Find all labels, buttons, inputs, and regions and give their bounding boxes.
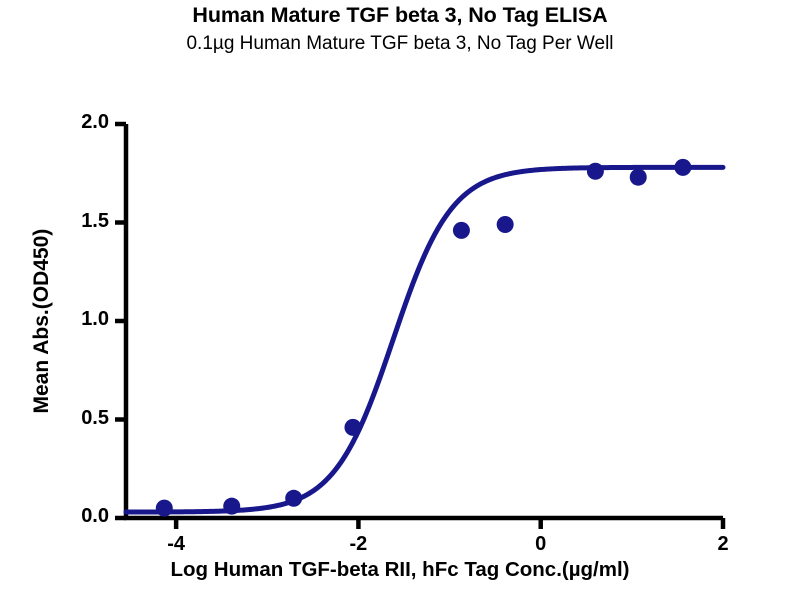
- data-point: [674, 159, 691, 176]
- data-point: [285, 490, 302, 507]
- elisa-chart-figure: Human Mature TGF beta 3, No Tag ELISA 0.…: [0, 0, 800, 600]
- data-point: [587, 163, 604, 180]
- axes-frame: [115, 124, 723, 529]
- fit-curve: [126, 167, 723, 512]
- fit-curve-path: [126, 167, 723, 512]
- data-point: [344, 419, 361, 436]
- plot-area: [0, 0, 800, 600]
- data-points: [156, 159, 692, 517]
- data-point: [453, 222, 470, 239]
- data-point: [630, 169, 647, 186]
- data-point: [156, 500, 173, 517]
- data-point: [223, 498, 240, 515]
- data-point: [497, 216, 514, 233]
